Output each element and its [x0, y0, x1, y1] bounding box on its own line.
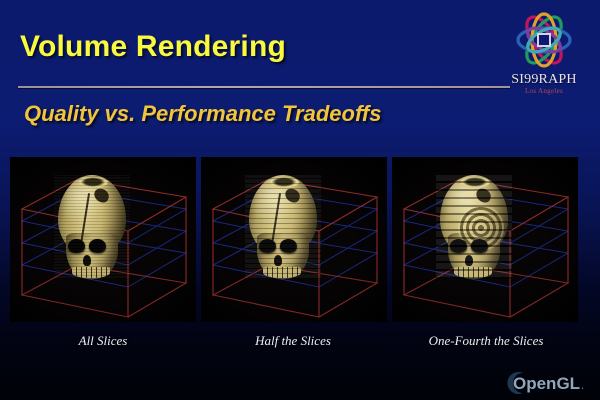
skull-eye-socket-left: [450, 239, 467, 253]
skull-top-opening: [78, 177, 108, 188]
skull-top-opening: [269, 177, 299, 188]
skull-volume-render: [54, 175, 130, 279]
svg-text:OpenGL: OpenGL: [513, 374, 580, 393]
siggraph-wordmark: SI99RAPH: [496, 72, 592, 88]
render-panel-one-fourth-slices[interactable]: [392, 157, 578, 322]
page-title: Volume Rendering: [20, 30, 286, 64]
svg-text:.: .: [581, 380, 584, 392]
skull-nasal-cavity: [465, 255, 473, 266]
skull-top-opening: [460, 177, 490, 188]
title-divider: [18, 86, 510, 88]
slide-canvas: Volume Rendering Quality vs. Performance…: [0, 0, 600, 400]
skull-volume-render: [436, 175, 512, 279]
skull-nasal-cavity: [83, 255, 91, 266]
render-panels: [10, 157, 578, 322]
skull-teeth: [263, 267, 301, 278]
skull-volume-render: [245, 175, 321, 279]
slide-subtitle: Quality vs. Performance Tradeoffs: [24, 101, 381, 127]
panel-caption-all-slices: All Slices: [18, 333, 188, 349]
skull-teeth: [72, 267, 110, 278]
skull-eye-socket-left: [68, 239, 85, 253]
skull-eye-socket-left: [259, 239, 276, 253]
skull-nasal-cavity: [274, 255, 282, 266]
siggraph-location: Los Angeles: [496, 87, 592, 95]
skull-teeth: [454, 267, 492, 278]
panel-caption-half-slices: Half the Slices: [208, 333, 378, 349]
render-panel-half-slices[interactable]: [201, 157, 387, 322]
skull-eye-socket-right: [471, 239, 489, 254]
siggraph-logo: SI99RAPH Los Angeles: [496, 8, 592, 100]
siggraph-rings-icon: [496, 8, 592, 74]
opengl-logo: OpenGL .: [503, 370, 595, 396]
panel-caption-one-fourth-slices: One-Fourth the Slices: [398, 333, 574, 349]
render-panel-all-slices[interactable]: [10, 157, 196, 322]
skull-eye-socket-right: [280, 239, 298, 254]
opengl-logo-icon: OpenGL .: [503, 370, 595, 396]
skull-eye-socket-right: [89, 239, 107, 254]
